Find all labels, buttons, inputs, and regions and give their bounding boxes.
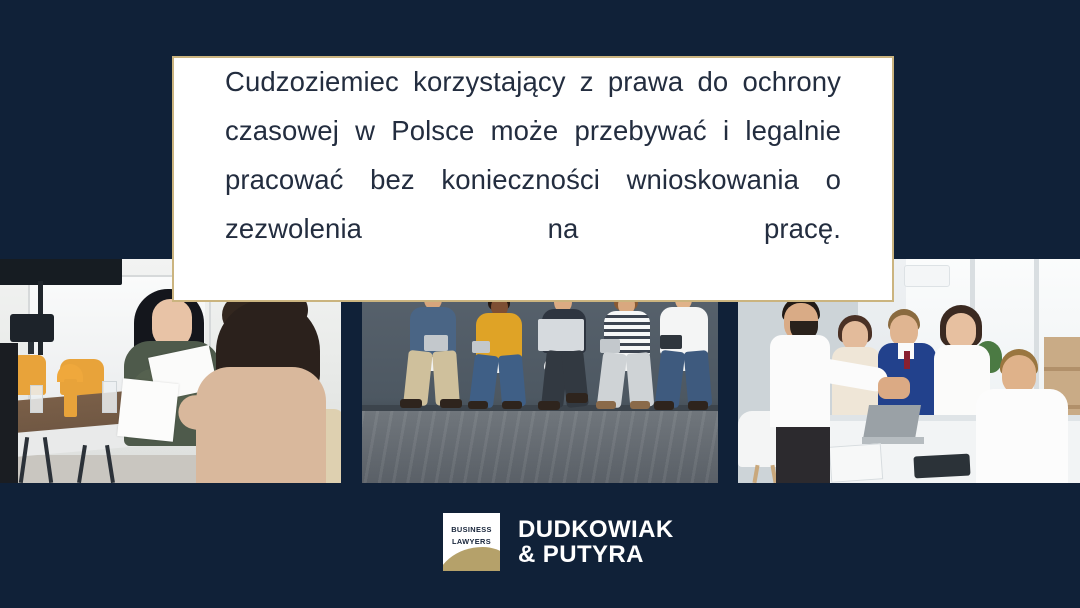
logo-mark-line-1: BUSINESS [443, 524, 500, 536]
photo2-person-2-phone [472, 341, 490, 353]
photo2-person-5-shoe-left [654, 401, 674, 410]
business-lawyers-logo-icon: BUSINESS LAWYERS [443, 513, 500, 571]
photo2-person-3-shoe-left [538, 401, 560, 410]
photo2-person-1-shoe-left [400, 399, 422, 408]
quote-text: Cudzoziemiec korzystający z prawa do och… [225, 57, 841, 302]
photo1-water-glass-1 [30, 385, 43, 413]
photo2-person-5-leg-right [684, 350, 713, 408]
photo2-person-4-shoe-left [596, 401, 616, 409]
photo1-document-b [117, 378, 179, 442]
photo1-wall-screen [0, 259, 122, 285]
photo2-person-4-shoe-right [630, 401, 650, 409]
logo-mark-line-2: LAWYERS [443, 536, 500, 548]
photo3-window-mullion-2 [1034, 259, 1039, 409]
photo3-handshake [878, 377, 910, 399]
photo2-person-2-shoe-left [468, 401, 488, 409]
quote-card: Cudzoziemiec korzystający z prawa do och… [172, 56, 894, 302]
brand-logo: BUSINESS LAWYERS DUDKOWIAK & PUTYRA [443, 513, 674, 571]
photo3-woman-right-head [946, 313, 976, 349]
photo1-orange-lamp-body [64, 379, 77, 417]
brand-wordmark: DUDKOWIAK & PUTYRA [518, 517, 674, 567]
photo2-person-1-shoe-right [440, 399, 462, 408]
photo1-monitor-stand [28, 342, 34, 354]
photo2-person-4-leg-right [626, 352, 655, 408]
brand-wordmark-line-2: & PUTYRA [518, 542, 674, 567]
photo3-clipboard [829, 443, 883, 483]
photo2-person-4-tablet [600, 339, 620, 353]
photo2-person-5-shoe-right [688, 401, 708, 410]
photo3-laptop-screen [863, 405, 921, 439]
photo3-man-foreground-body [976, 389, 1068, 483]
photo2-person-3-laptop [538, 319, 584, 351]
photo2-person-5-phone [660, 335, 682, 349]
photo1-foreground-column [0, 343, 18, 483]
photo2-person-1-leg-right [432, 350, 460, 406]
photo2-floor-planks [362, 411, 718, 483]
photo3-air-conditioner [904, 265, 950, 287]
photo1-water-glass-2 [102, 381, 117, 413]
slide-canvas: Cudzoziemiec korzystający z prawa do och… [0, 0, 1080, 608]
photo3-man-left-trousers [776, 419, 830, 483]
photo2-person-2-shoe-right [502, 401, 522, 409]
photo2-person-3-shoe-right [566, 393, 588, 403]
photo3-shelf-board-1 [1044, 367, 1080, 371]
photo3-tablet [913, 454, 970, 479]
photo3-man-center-tie [904, 351, 910, 369]
logo-gold-wave [443, 547, 500, 571]
photo2-person-1-tablet [424, 335, 448, 351]
logo-mark-text: BUSINESS LAWYERS [443, 524, 500, 547]
brand-wordmark-line-1: DUDKOWIAK [518, 517, 674, 542]
photo1-monitor [10, 314, 54, 342]
photo2-person-2-leg-right [498, 354, 526, 408]
